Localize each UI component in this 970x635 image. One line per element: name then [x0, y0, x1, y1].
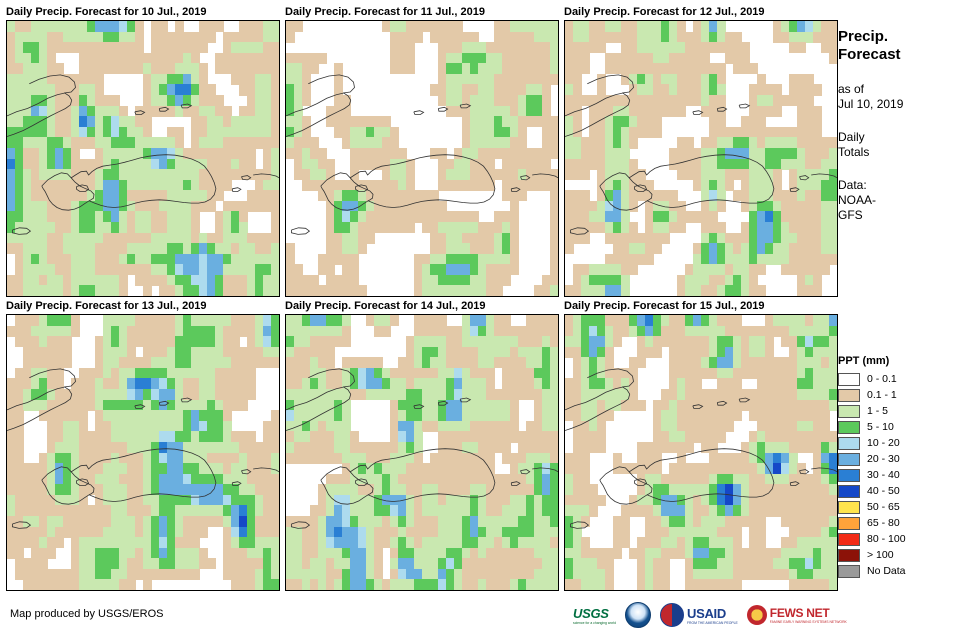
data-line1: Data:	[838, 178, 968, 193]
legend-label: No Data	[867, 565, 906, 577]
legend-swatch	[838, 389, 860, 402]
legend-item: No Data	[838, 563, 963, 579]
legend: PPT (mm) 0 - 0.10.1 - 11 - 55 - 1010 - 2…	[838, 355, 963, 579]
legend-label: > 100	[867, 549, 894, 561]
usaid-logo: USAID FROM THE AMERICAN PEOPLE	[660, 602, 738, 628]
panel-6: Daily Precip. Forecast for 15 Jul., 2019	[564, 300, 838, 591]
side-title-line1: Precip.	[838, 28, 968, 46]
panel-2: Daily Precip. Forecast for 11 Jul., 2019	[285, 6, 559, 297]
panel-4: Daily Precip. Forecast for 13 Jul., 2019	[6, 300, 280, 591]
legend-rows: 0 - 0.10.1 - 11 - 55 - 1010 - 2020 - 303…	[838, 371, 963, 579]
precip-raster-layer	[7, 315, 279, 590]
totals-line2: Totals	[838, 145, 968, 160]
legend-item: 50 - 65	[838, 499, 963, 515]
precip-raster-layer	[286, 315, 558, 590]
legend-swatch	[838, 421, 860, 434]
usgs-logo-sub: science for a changing world	[573, 621, 616, 625]
legend-item: 40 - 50	[838, 483, 963, 499]
totals-block: Daily Totals	[838, 130, 968, 160]
map-canvas[interactable]	[285, 314, 559, 591]
legend-label: 65 - 80	[867, 517, 900, 529]
legend-label: 40 - 50	[867, 485, 900, 497]
legend-item: 10 - 20	[838, 435, 963, 451]
fewsnet-logo: FEWS NET FAMINE EARLY WARNING SYSTEMS NE…	[747, 602, 847, 628]
legend-label: 50 - 65	[867, 501, 900, 513]
map-credit: Map produced by USGS/EROS	[10, 608, 163, 620]
legend-swatch	[838, 469, 860, 482]
legend-swatch	[838, 437, 860, 450]
map-canvas[interactable]	[285, 20, 559, 297]
legend-label: 10 - 20	[867, 437, 900, 449]
panel-3: Daily Precip. Forecast for 12 Jul., 2019	[564, 6, 838, 297]
precip-raster-layer	[286, 21, 558, 296]
legend-item: 80 - 100	[838, 531, 963, 547]
legend-label: 80 - 100	[867, 533, 906, 545]
legend-item: > 100	[838, 547, 963, 563]
totals-line1: Daily	[838, 130, 968, 145]
side-title-line2: Forecast	[838, 46, 968, 64]
fewsnet-logo-sub: FAMINE EARLY WARNING SYSTEMS NETWORK	[770, 620, 847, 624]
data-line2: NOAA-	[838, 193, 968, 208]
legend-swatch	[838, 533, 860, 546]
panel-title: Daily Precip. Forecast for 13 Jul., 2019	[6, 300, 280, 312]
legend-label: 20 - 30	[867, 453, 900, 465]
usaid-mark-icon	[660, 603, 684, 627]
legend-label: 0 - 0.1	[867, 373, 897, 385]
legend-swatch	[838, 549, 860, 562]
asof-line2: Jul 10, 2019	[838, 97, 968, 112]
fewsnet-mark-icon	[747, 605, 767, 625]
map-canvas[interactable]	[564, 20, 838, 297]
legend-label: 0.1 - 1	[867, 389, 897, 401]
map-canvas[interactable]	[6, 20, 280, 297]
precip-raster-layer	[565, 21, 837, 296]
noaa-seal-icon	[625, 602, 651, 628]
panel-title: Daily Precip. Forecast for 11 Jul., 2019	[285, 6, 559, 18]
panel-title: Daily Precip. Forecast for 14 Jul., 2019	[285, 300, 559, 312]
precip-raster-layer	[7, 21, 279, 296]
legend-label: 30 - 40	[867, 469, 900, 481]
usaid-logo-text: USAID	[687, 606, 738, 621]
panel-title: Daily Precip. Forecast for 12 Jul., 2019	[564, 6, 838, 18]
panel-1: Daily Precip. Forecast for 10 Jul., 2019	[6, 6, 280, 297]
data-line3: GFS	[838, 208, 968, 223]
fewsnet-logo-text: FEWS NET	[770, 606, 847, 620]
usgs-logo-text: USGS	[573, 606, 616, 621]
precip-raster-layer	[565, 315, 837, 590]
legend-item: 1 - 5	[838, 403, 963, 419]
asof-line1: as of	[838, 82, 968, 97]
legend-item: 5 - 10	[838, 419, 963, 435]
panel-title: Daily Precip. Forecast for 15 Jul., 2019	[564, 300, 838, 312]
map-canvas[interactable]	[6, 314, 280, 591]
legend-item: 0 - 0.1	[838, 371, 963, 387]
legend-item: 30 - 40	[838, 467, 963, 483]
legend-item: 20 - 30	[838, 451, 963, 467]
legend-swatch	[838, 517, 860, 530]
legend-label: 1 - 5	[867, 405, 888, 417]
legend-swatch	[838, 565, 860, 578]
legend-item: 0.1 - 1	[838, 387, 963, 403]
legend-swatch	[838, 373, 860, 386]
legend-swatch	[838, 405, 860, 418]
legend-swatch	[838, 501, 860, 514]
legend-swatch	[838, 453, 860, 466]
legend-swatch	[838, 485, 860, 498]
panel-title: Daily Precip. Forecast for 10 Jul., 2019	[6, 6, 280, 18]
panel-5: Daily Precip. Forecast for 14 Jul., 2019	[285, 300, 559, 591]
legend-item: 65 - 80	[838, 515, 963, 531]
side-info: Precip. Forecast as of Jul 10, 2019 Dail…	[838, 28, 968, 223]
map-canvas[interactable]	[564, 314, 838, 591]
usgs-logo: USGS science for a changing world	[573, 602, 616, 628]
data-source-block: Data: NOAA- GFS	[838, 178, 968, 223]
logo-bar: USGS science for a changing world USAID …	[573, 602, 847, 628]
precip-forecast-map-page: Daily Precip. Forecast for 10 Jul., 2019…	[0, 0, 970, 635]
asof-block: as of Jul 10, 2019	[838, 82, 968, 112]
noaa-logo	[625, 602, 651, 628]
usaid-logo-sub: FROM THE AMERICAN PEOPLE	[687, 621, 738, 625]
legend-label: 5 - 10	[867, 421, 894, 433]
legend-title: PPT (mm)	[838, 355, 963, 367]
